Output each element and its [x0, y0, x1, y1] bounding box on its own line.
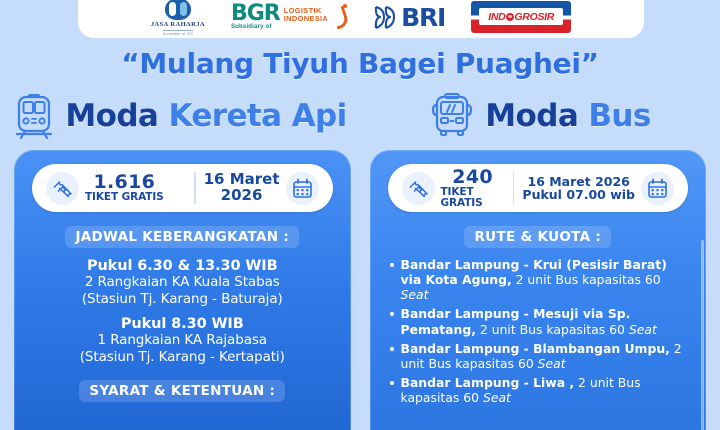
indogrosir-word-before: IND [488, 11, 505, 23]
train-summary-pill: 1.616 TIKET GRATIS 16 Maret 2026 [32, 164, 333, 212]
train-schedule-0-detail: 2 Rangkaian KA Kuala Stabas [26, 274, 339, 291]
indogrosir-word-after: GROSIR [514, 11, 554, 23]
bus-route-1-quota: 2 unit Bus kapasitas 60 [476, 322, 629, 337]
bus-icon [429, 93, 475, 139]
mode-train-word-dark: Moda [65, 98, 158, 134]
indogrosir-logo: IND GROSIR [471, 1, 571, 33]
bgr-wordmark: BGR [231, 4, 280, 24]
jasa-raharja-subtext: A member of IFG [163, 30, 193, 36]
bgr-logistik-logo: BGR Subsidiary of LOGISTIK INDONESIA [231, 4, 347, 30]
bus-route-1-unit: Seat [629, 322, 657, 337]
bus-date-block: 16 Maret 2026 Pukul 07.00 wib [522, 175, 635, 201]
list-item: Bandar Lampung - Blambangan Umpu, 2 unit… [388, 341, 691, 371]
bgr-swoosh-icon [333, 4, 347, 30]
mode-heading-train: Moda Kereta Api [0, 93, 360, 139]
train-schedule-list: Pukul 6.30 & 13.30 WIB 2 Rangkaian KA Ku… [26, 258, 339, 366]
train-schedule-1-time: Pukul 8.30 WIB [26, 316, 339, 332]
bus-route-3-name: Bandar Lampung - Liwa , [401, 375, 575, 390]
bus-ticket-count: 240 [452, 168, 493, 187]
bus-ticket-segment: 240 TIKET GRATIS [394, 168, 513, 209]
bus-date-segment: 16 Maret 2026 Pukul 07.00 wib [514, 172, 682, 205]
train-date-segment: 16 Maret 2026 [196, 172, 327, 205]
train-schedule-heading: JADWAL KEBERANGKATAN : [65, 226, 299, 248]
indogrosir-wordmark: IND GROSIR [488, 11, 554, 23]
mode-heading-row: Moda Kereta Api Moda Bus [0, 93, 720, 139]
ticket-icon [46, 172, 79, 205]
bus-ticket-label: TIKET GRATIS [441, 187, 505, 208]
mode-title-train: Moda Kereta Api [65, 101, 346, 132]
bgr-subsidiary-text: Subsidiary of [231, 24, 272, 30]
mode-bus-word-light: Bus [588, 98, 650, 134]
bus-route-0-quota: 2 unit Bus kapasitas 60 [512, 272, 661, 287]
bus-route-2-unit: Seat [538, 356, 566, 371]
mode-bus-word-dark: Moda [485, 98, 578, 134]
train-info-card: 1.616 TIKET GRATIS 16 Maret 2026 [14, 150, 351, 430]
mode-title-bus: Moda Bus [485, 101, 650, 132]
bgr-logistik-line2: INDONESIA [284, 15, 328, 23]
calendar-icon [286, 172, 319, 205]
jasa-raharja-logo: JASA RAHARJA A member of IFG [151, 0, 205, 36]
jasa-raharja-wordmark: JASA RAHARJA [151, 21, 205, 28]
ticket-icon [402, 172, 435, 205]
train-schedule-1-detail: 1 Rangkaian KA Rajabasa [26, 332, 339, 349]
sponsor-logo-bar: JASA RAHARJA A member of IFG BGR Subsidi… [78, 0, 644, 38]
train-terms-heading: SYARAT & KETENTUAN : [79, 380, 285, 402]
train-date-line2: 2026 [221, 188, 263, 204]
train-schedule-1-route: (Stasiun Tj. Karang - Kertapati) [26, 349, 339, 366]
bus-routes-heading: RUTE & KUOTA : [464, 226, 611, 248]
train-ticket-segment: 1.616 TIKET GRATIS [38, 172, 194, 205]
bus-date-line2: Pukul 07.00 wib [522, 188, 635, 201]
mode-heading-bus: Moda Bus [360, 93, 720, 139]
mode-train-word-light: Kereta Api [168, 98, 346, 134]
page-tagline: “Mulang Tiyuh Bagei Puaghei” [0, 47, 720, 80]
train-icon [13, 93, 55, 139]
bus-route-3-unit: Seat [483, 390, 511, 405]
train-ticket-count-block: 1.616 TIKET GRATIS [85, 173, 164, 203]
jasa-raharja-mark-icon [165, 0, 191, 20]
calendar-icon [641, 172, 674, 205]
info-cards-row: 1.616 TIKET GRATIS 16 Maret 2026 [14, 150, 706, 430]
list-item: Bandar Lampung - Krui (Pesisir Barat) vi… [388, 257, 691, 302]
train-schedule-0-time: Pukul 6.30 & 13.30 WIB [26, 258, 339, 274]
list-item: Bandar Lampung - Liwa , 2 unit Bus kapas… [388, 375, 691, 405]
train-ticket-count: 1.616 [94, 173, 156, 192]
bri-mark-icon [373, 4, 399, 31]
bus-ticket-count-block: 240 TIKET GRATIS [441, 168, 505, 209]
bri-wordmark: BRI [401, 5, 445, 30]
train-schedule-0-route: (Stasiun Tj. Karang - Baturaja) [26, 291, 339, 308]
train-date-block: 16 Maret 2026 [204, 172, 280, 204]
train-ticket-label: TIKET GRATIS [85, 192, 164, 203]
bri-logo: BRI [373, 4, 445, 31]
scroll-indicator[interactable] [701, 240, 704, 430]
indogrosir-dot-icon [506, 13, 514, 21]
bus-info-card: 240 TIKET GRATIS 16 Maret 2026 Pukul 07.… [370, 150, 707, 430]
bus-route-0-unit: Seat [401, 287, 429, 302]
list-item: Bandar Lampung - Mesuji via Sp. Pematang… [388, 306, 691, 336]
bus-route-list: Bandar Lampung - Krui (Pesisir Barat) vi… [388, 257, 691, 405]
bus-summary-pill: 240 TIKET GRATIS 16 Maret 2026 Pukul 07.… [388, 164, 689, 212]
bus-route-2-name: Bandar Lampung - Blambangan Umpu, [401, 341, 670, 356]
